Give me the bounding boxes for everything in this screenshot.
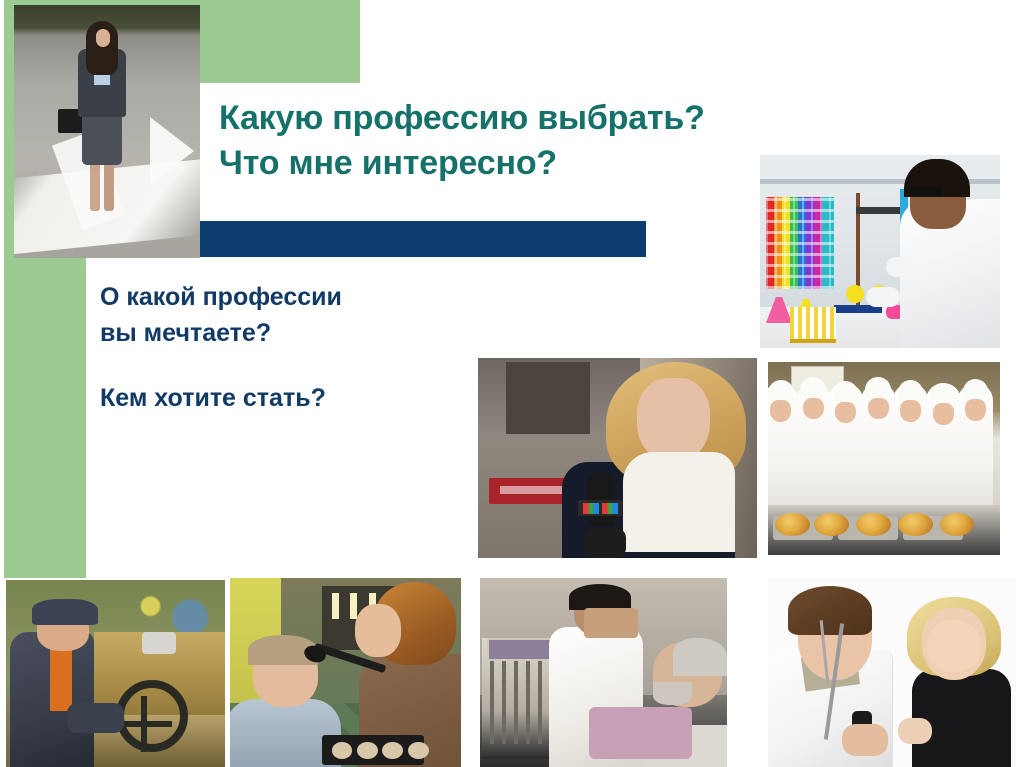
bakers-students-photo: Студенты-пекари с выпечкой: [768, 362, 1000, 555]
machinist-orange-vest: [50, 647, 72, 711]
slide-title-line-1: Какую профессию выбрать?: [219, 96, 779, 141]
body-spacer: [100, 351, 480, 381]
patient-bib: [589, 707, 693, 760]
slide-body-text: О какой профессии вы мечтаете? Кем хотит…: [100, 280, 480, 417]
workshop-scene: [6, 580, 225, 767]
child-hand: [898, 718, 932, 744]
salon-scene: [230, 578, 461, 767]
safety-glasses-icon: [910, 187, 942, 196]
tv-journalist-photo: Тележурналистка с микрофоном: [478, 358, 757, 558]
journalist-scarf: [623, 452, 735, 552]
bakery-scene: [768, 362, 1000, 555]
body-line-2: вы мечтаете?: [100, 316, 480, 352]
dental-hoses: [490, 661, 544, 744]
laboratory-scene: [760, 155, 1000, 348]
dentist-hair: [569, 584, 631, 610]
journalist-scene: [478, 358, 757, 558]
dental-instrument-tray: [487, 638, 555, 661]
dentist-patient-photo: Стоматолог лечит пациента: [480, 578, 727, 767]
baker-face-6: [933, 403, 954, 425]
person-face: [96, 29, 110, 47]
bakers-photo-caption: Студенты-пекари с выпечкой: [768, 554, 769, 555]
pastry-2: [814, 513, 849, 536]
journalist-photo-caption: Тележурналистка с микрофоном: [478, 557, 479, 558]
pastry-4: [898, 513, 933, 536]
navy-accent-bar: [200, 221, 646, 257]
test-tube-rack: [790, 307, 836, 343]
person-skirt: [82, 109, 122, 165]
crossroads-scene: [14, 5, 200, 258]
bakers-row: [768, 377, 1000, 504]
baker-face-2: [803, 398, 824, 420]
journalist-hand: [584, 528, 626, 558]
slide-title: Какую профессию выбрать? Что мне интерес…: [219, 96, 779, 186]
doctor-hand: [842, 724, 888, 756]
patient-hair: [673, 638, 727, 676]
pediatrician-child-photo: Врач слушает девочку стетоскопом: [768, 578, 1016, 767]
lathe-chuck: [142, 632, 176, 654]
doctor-hair: [788, 586, 872, 635]
yellow-bulb-flask-1: [846, 285, 864, 303]
machinist-lathe-photo: Рабочий у токарного станка: [6, 580, 225, 767]
makeup-artist-face: [355, 604, 401, 657]
body-line-1: О какой профессии: [100, 280, 480, 316]
chemist-gloved-hand-1: [886, 257, 916, 277]
microphone-icon: [587, 472, 615, 526]
pastry-1: [775, 513, 810, 536]
baker-face-3: [835, 402, 856, 424]
microphone-logo-2: [602, 503, 618, 514]
handwheel-icon: [116, 680, 188, 752]
pediatrician-scene: [768, 578, 1016, 767]
mirror-light-2: [350, 593, 357, 619]
pastry-5: [940, 513, 975, 536]
dental-clinic-scene: [480, 578, 727, 767]
patient-beard: [653, 682, 693, 705]
baker-face-1: [770, 400, 791, 422]
microphone-logo-1: [583, 503, 599, 514]
journalist-face: [637, 378, 710, 462]
chemist-laboratory-photo: Химик в белом халате в лаборатории: [760, 155, 1000, 348]
chemist-photo-caption: Химик в белом халате в лаборатории: [760, 347, 761, 348]
body-line-3: Кем хотите стать?: [100, 381, 480, 417]
building-window: [506, 362, 590, 434]
child-shirt: [912, 669, 1011, 767]
pastry-3: [856, 513, 891, 536]
woman-at-crossroads-photo: Женщина с портфелем на перекрёстке со ст…: [14, 5, 200, 258]
handwheel-spoke-vertical: [141, 696, 147, 752]
slide-canvas: Какую профессию выбрать? Что мне интерес…: [0, 0, 1024, 767]
periodic-table-grid: [766, 197, 834, 289]
makeup-artist-photo: Визажист наносит макияж: [230, 578, 461, 767]
mirror-light-1: [332, 593, 339, 619]
baker-face-4: [868, 398, 889, 420]
machinist-arm: [67, 703, 124, 733]
baker-face-5: [900, 400, 921, 422]
crossroads-photo-caption: Женщина с портфелем на перекрёстке со ст…: [14, 257, 15, 258]
chemist-gloved-hand-2: [866, 287, 900, 307]
baker-face-7: [965, 399, 986, 421]
machinist-cap: [32, 599, 98, 625]
child-face: [927, 620, 982, 673]
slide-title-line-2: Что мне интересно?: [219, 141, 779, 186]
road-arrow-head-icon: [150, 117, 194, 185]
face-mask-icon: [584, 608, 638, 638]
